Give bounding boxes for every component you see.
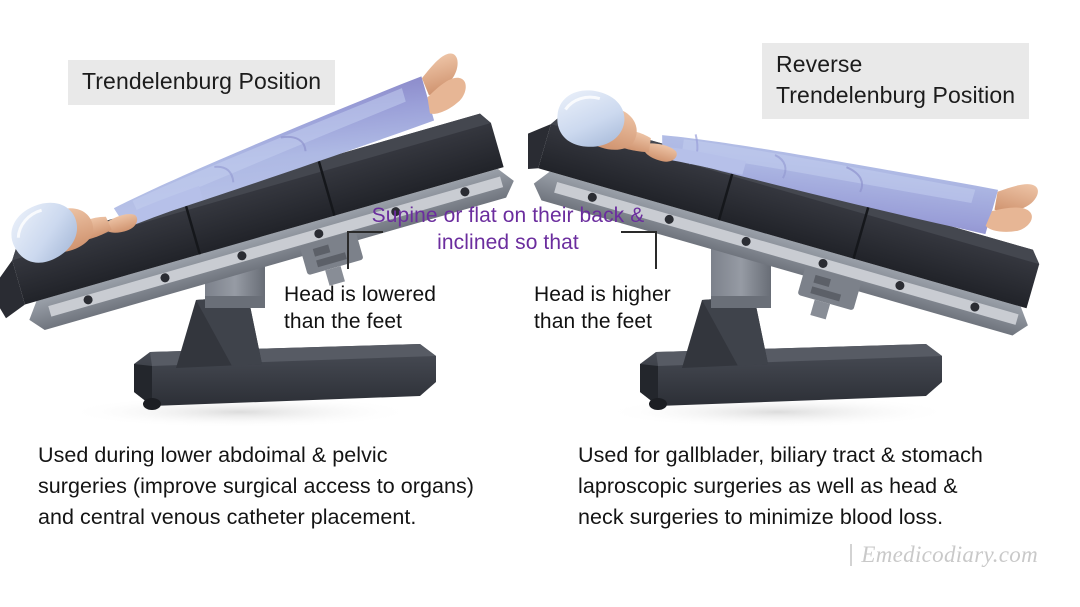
illustration-canvas: Trendelenburg Position Reverse Trendelen…: [0, 0, 1080, 607]
shared-definition-note: Supine or flat on their back & inclined …: [358, 202, 658, 256]
bracket-left: [347, 231, 383, 269]
panel-title-right: Reverse Trendelenburg Position: [762, 43, 1029, 119]
bracket-right: [621, 231, 657, 269]
watermark: Emedicodiary.com: [850, 542, 1038, 568]
patient-feet: [985, 176, 1041, 240]
panel-title-left: Trendelenburg Position: [68, 60, 335, 105]
watermark-text: Emedicodiary.com: [861, 542, 1038, 567]
watermark-divider: [850, 544, 852, 566]
note-head-higher: Head is higher than the feet: [534, 281, 671, 335]
description-left: Used during lower abdoimal & pelvic surg…: [38, 440, 558, 533]
description-right: Used for gallblader, biliary tract & sto…: [578, 440, 1068, 533]
note-head-lowered: Head is lowered than the feet: [284, 281, 436, 335]
table-base: [640, 296, 942, 410]
